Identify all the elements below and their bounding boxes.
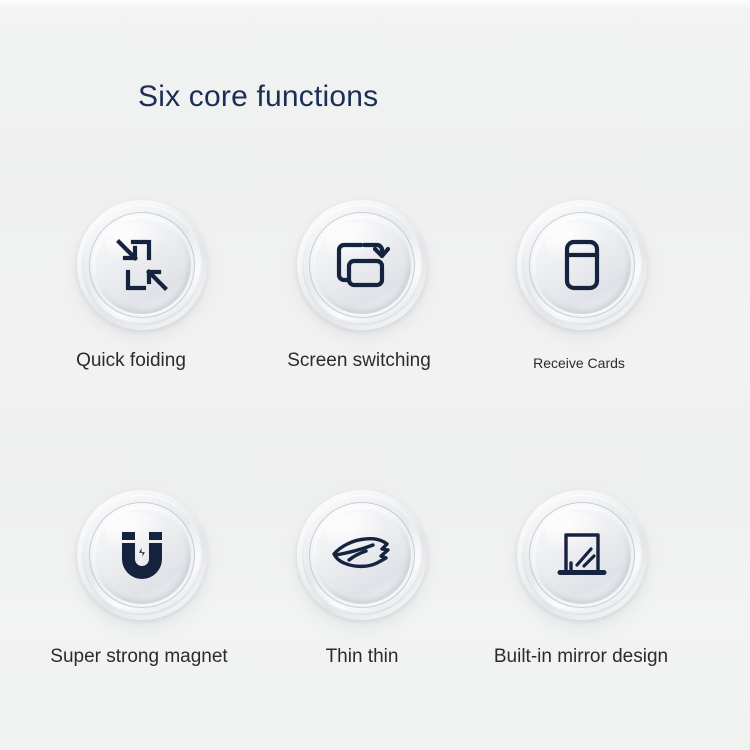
- metallic-badge: [517, 490, 647, 620]
- feature-icon-badge: [77, 490, 207, 620]
- badge-face: [93, 506, 191, 604]
- mirror-icon: [553, 527, 611, 583]
- badge-face: [93, 216, 191, 314]
- badge-face: [533, 506, 631, 604]
- metallic-badge: [77, 200, 207, 330]
- badge-face: [313, 216, 411, 314]
- badge-face: [313, 506, 411, 604]
- feature-icon-badge: [297, 490, 427, 620]
- feature-label: Built-in mirror design: [471, 644, 691, 670]
- feature-label: Thin thin: [252, 644, 472, 670]
- feature-label: Receive Cards: [469, 350, 689, 376]
- feature-label: Screen switching: [249, 348, 469, 374]
- feature-icon-badge: [517, 200, 647, 330]
- feature-builtin-mirror: Built-in mirror design: [472, 490, 692, 664]
- badge-face: [533, 216, 631, 314]
- metallic-badge: [297, 490, 427, 620]
- feature-thin-thin: Thin thin: [252, 490, 472, 664]
- page-title: Six core functions: [138, 76, 378, 118]
- feature-quick-folding: Quick foiding: [32, 200, 252, 374]
- magnet-icon: [115, 527, 169, 583]
- feature-icon-badge: [517, 490, 647, 620]
- feature-receive-cards: Receive Cards: [472, 200, 692, 374]
- metallic-badge: [77, 490, 207, 620]
- feature-super-strong-magnet: Super strong magnet: [32, 490, 252, 664]
- feature-label: Quick foiding: [21, 348, 241, 374]
- feature-screen-switching: Screen switching: [252, 200, 472, 374]
- feature-highlight-panel: Six core functions: [0, 0, 750, 750]
- collapse-arrows-icon: [112, 235, 172, 295]
- feature-icon-badge: [77, 200, 207, 330]
- screen-rotate-icon: [331, 236, 393, 294]
- feature-icon-badge: [297, 200, 427, 330]
- feature-label: Super strong magnet: [29, 644, 249, 670]
- feather-icon: [329, 533, 395, 577]
- card-pocket-icon: [559, 237, 605, 293]
- metallic-badge: [517, 200, 647, 330]
- metallic-badge: [297, 200, 427, 330]
